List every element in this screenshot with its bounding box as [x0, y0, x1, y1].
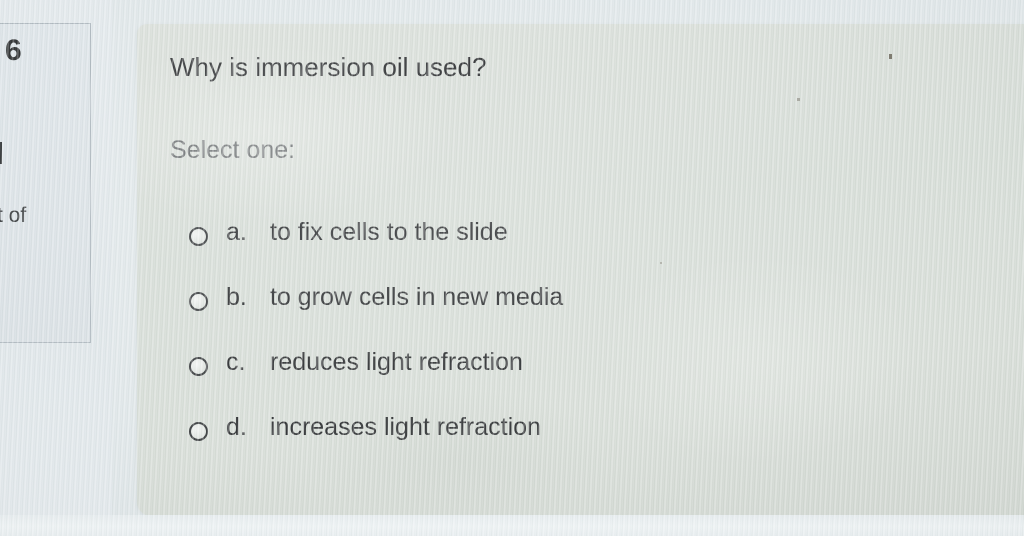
question-card: Why is immersion oil used? Select one: a… [137, 24, 1024, 516]
answer-option-a[interactable]: a. to fix cells to the slide [189, 220, 969, 285]
radio-button-a[interactable] [189, 227, 208, 246]
option-letter-c: c. [226, 350, 270, 375]
answer-option-c[interactable]: c. reduces light refraction [189, 350, 969, 415]
radio-button-d[interactable] [189, 422, 208, 441]
answer-option-b[interactable]: b. to grow cells in new media [189, 285, 969, 350]
option-text-c[interactable]: reduces light refraction [270, 350, 969, 375]
clipped-sidebar-text: t of [0, 204, 26, 228]
option-text-d[interactable]: increases light refraction [270, 415, 969, 440]
radio-button-b[interactable] [189, 292, 208, 311]
answer-options-list: a. to fix cells to the slide b. to grow … [189, 220, 969, 480]
screen-bottom-glare [0, 515, 1024, 536]
option-text-b[interactable]: to grow cells in new media [270, 285, 969, 310]
clipped-glyph [0, 142, 2, 164]
radio-button-c[interactable] [189, 357, 208, 376]
question-stem: Why is immersion oil used? [170, 52, 486, 83]
answer-option-d[interactable]: d. increases light refraction [189, 415, 969, 480]
select-one-label: Select one: [170, 136, 295, 165]
page-left-margin: 6 t of [0, 0, 112, 536]
quiz-navigation-panel[interactable]: 6 t of [0, 23, 91, 343]
option-letter-d: d. [226, 415, 270, 440]
option-letter-b: b. [226, 285, 270, 310]
option-text-a[interactable]: to fix cells to the slide [270, 220, 969, 245]
screen-photo: 6 t of Why is immersion oil used? Select… [0, 0, 1024, 536]
question-number-badge: 6 [5, 34, 22, 68]
option-letter-a: a. [226, 220, 270, 245]
